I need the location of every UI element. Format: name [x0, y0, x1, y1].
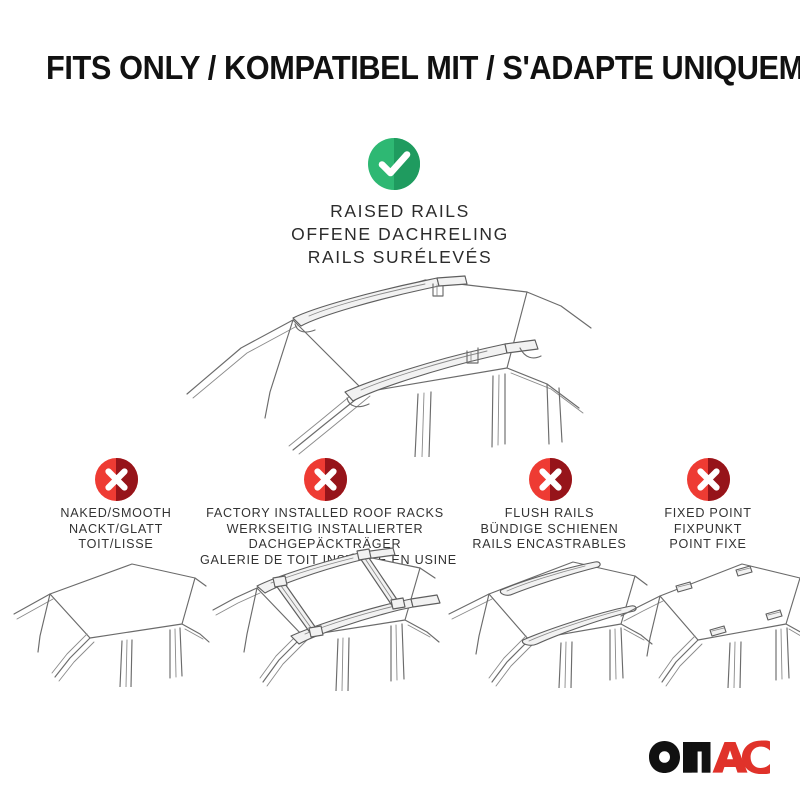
x-circle-icon	[95, 458, 138, 501]
car-roof-bare-illustration	[10, 552, 210, 687]
car-roof-raised-rails-illustration	[175, 272, 635, 457]
page-title: FITS ONLY / KOMPATIBEL MIT / S'ADAPTE UN…	[46, 48, 800, 88]
omac-logo-mark	[648, 740, 772, 774]
label-en: NAKED/SMOOTH	[6, 506, 226, 522]
header-bar: FITS ONLY / KOMPATIBEL MIT / S'ADAPTE UN…	[0, 48, 800, 98]
x-mark-glyph	[304, 458, 347, 501]
omac-logo	[648, 740, 772, 774]
compatible-labels: RAISED RAILS OFFENE DACHRELING RAILS SUR…	[0, 200, 800, 269]
logo-letter-o	[649, 741, 680, 773]
logo-letter-m-left	[683, 742, 692, 773]
x-circle-icon	[304, 458, 347, 501]
x-circle-icon	[529, 458, 572, 501]
label-de: NACKT/GLATT	[6, 522, 226, 538]
logo-letter-m-right	[702, 742, 711, 773]
label-en: FACTORY INSTALLED ROOF RACKS	[200, 506, 450, 522]
check-circle-icon	[368, 138, 420, 190]
x-mark-glyph	[95, 458, 138, 501]
incompatible-labels-naked: NAKED/SMOOTH NACKT/GLATT TOIT/LISSE	[6, 506, 226, 553]
x-mark-glyph	[687, 458, 730, 501]
incompatible-section: NAKED/SMOOTH NACKT/GLATT TOIT/LISSE	[0, 440, 800, 720]
compatible-label-de: OFFENE DACHRELING	[0, 223, 800, 246]
compatible-label-fr: RAILS SURÉLEVÉS	[0, 246, 800, 269]
logo-letter-c	[742, 741, 770, 774]
label-de-1: WERKSEITIG INSTALLIERTER	[200, 522, 450, 538]
x-circle-icon	[687, 458, 730, 501]
car-roof-fixed-points-illustration	[618, 548, 800, 688]
compatible-label-en: RAISED RAILS	[0, 200, 800, 223]
label-en: FIXED POINT	[625, 506, 791, 522]
label-fr: TOIT/LISSE	[6, 537, 226, 553]
x-mark-glyph	[529, 458, 572, 501]
check-mark-glyph	[368, 138, 420, 190]
label-de: FIXPUNKT	[625, 522, 791, 538]
car-roof-factory-crossbars-illustration	[205, 536, 450, 691]
incompatible-labels-fixed-point: FIXED POINT FIXPUNKT POINT FIXE	[625, 506, 791, 553]
